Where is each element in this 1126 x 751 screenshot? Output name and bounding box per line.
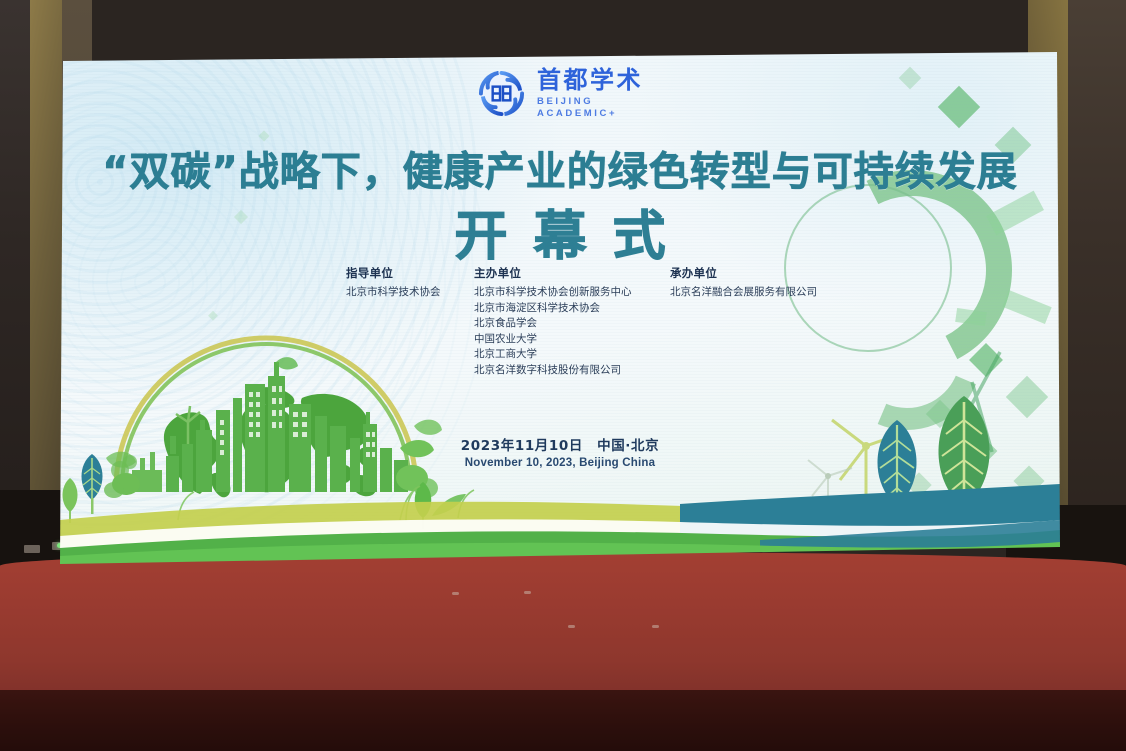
org-column-guidance: 指导单位 北京市科学技术协会	[346, 265, 474, 378]
stage-front-face	[0, 690, 1126, 751]
org-item: 中国农业大学	[474, 332, 670, 348]
event-date-location: 2023年11月10日 中国·北京 November 10, 2023, Bei…	[60, 434, 1060, 469]
org-item: 北京市科学技术协会	[346, 285, 474, 301]
led-backdrop-screen: 首都学术 BEIJING ACADEMIC+ “双碳”战略下，健康产业的绿色转型…	[60, 52, 1060, 564]
logo-subtitle-2: ACADEMIC+	[537, 109, 643, 119]
wall-panel-right-dark	[1068, 0, 1126, 575]
org-item: 北京名洋数字科技股份有限公司	[474, 363, 670, 379]
wall-socket-left	[24, 545, 40, 553]
org-column-host: 主办单位 北京市科学技术协会创新服务中心 北京市海淀区科学技术协会 北京食品学会…	[474, 265, 670, 378]
org-column-organizer: 承办单位 北京名洋融合会展服务有限公司	[670, 265, 866, 378]
event-main-title: “双碳”战略下，健康产业的绿色转型与可持续发展	[60, 139, 1060, 197]
org-heading: 主办单位	[474, 265, 670, 281]
org-item: 北京市海淀区科学技术协会	[474, 301, 670, 317]
logo-title-cn: 首都学术	[537, 68, 643, 92]
org-item: 北京名洋融合会展服务有限公司	[670, 285, 866, 301]
event-sub-title: 开幕式	[60, 194, 1060, 270]
org-heading: 承办单位	[670, 265, 866, 281]
org-item: 北京食品学会	[474, 316, 670, 332]
organizer-units: 指导单位 北京市科学技术协会 主办单位 北京市科学技术协会创新服务中心 北京市海…	[346, 265, 866, 378]
org-heading: 指导单位	[346, 265, 474, 281]
logo-subtitle-1: BEIJING	[537, 97, 643, 107]
stage-floor	[0, 552, 1126, 697]
event-logo: 首都学术 BEIJING ACADEMIC+	[60, 68, 1060, 118]
event-date-cn: 2023年11月10日 中国·北京	[60, 434, 1060, 454]
org-item: 北京工商大学	[474, 347, 670, 363]
beijing-academic-swirl-logo-icon	[477, 69, 526, 118]
org-item: 北京市科学技术协会创新服务中心	[474, 285, 670, 301]
event-date-en: November 10, 2023, Beijing China	[60, 457, 1060, 469]
